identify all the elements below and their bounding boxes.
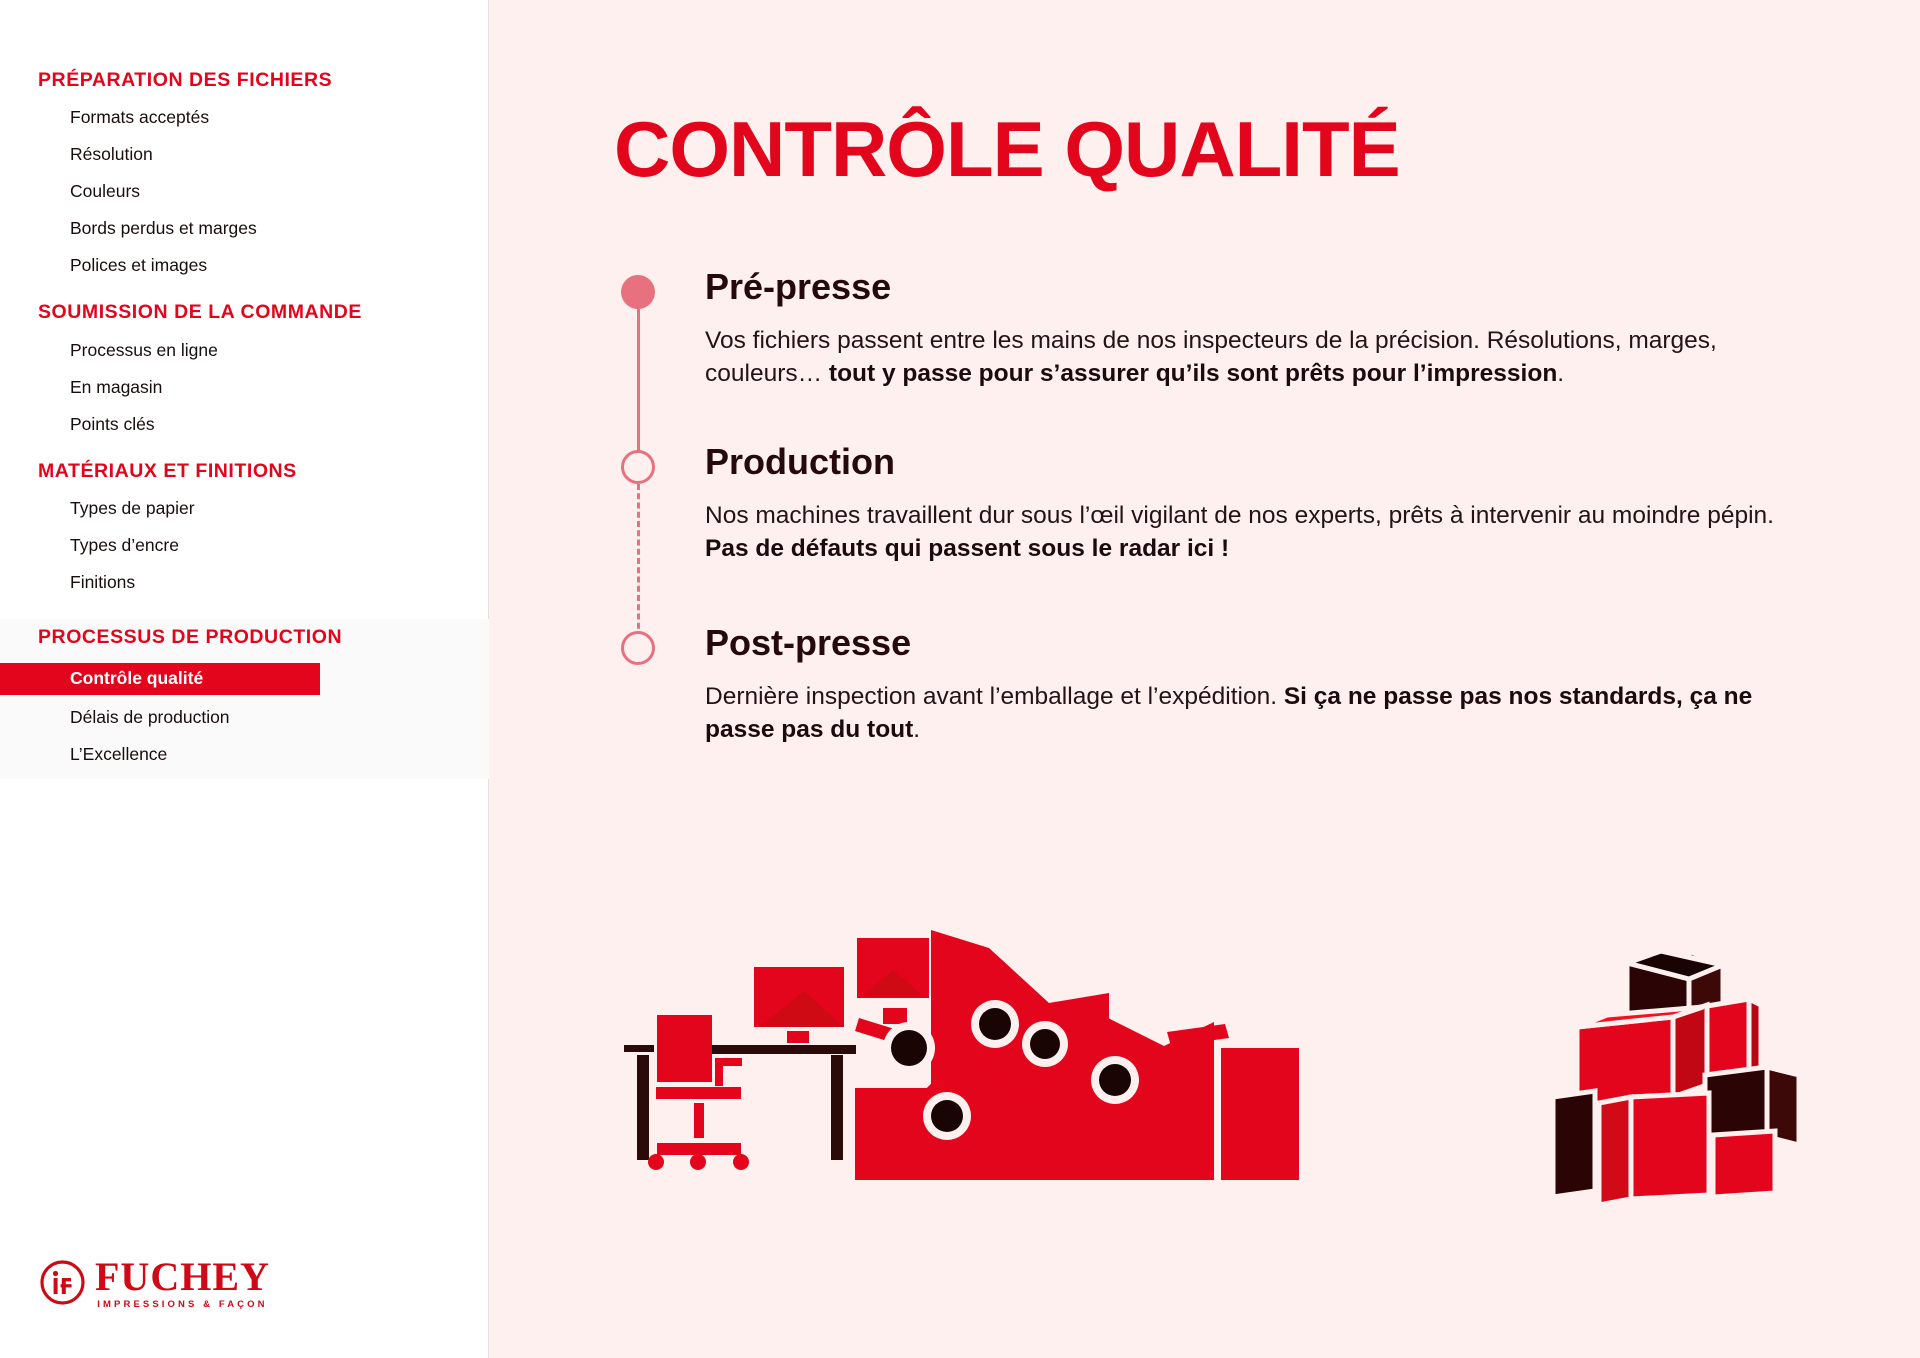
sidebar-item-polices-images[interactable]: Polices et images <box>0 255 489 276</box>
sidebar-item-bords-perdus[interactable]: Bords perdus et marges <box>0 218 489 239</box>
sidebar: PRÉPARATION DES FICHIERS Formats accepté… <box>0 0 489 1358</box>
sidebar-item-couleurs[interactable]: Couleurs <box>0 181 489 202</box>
sidebar-item-lexcellence[interactable]: L’Excellence <box>0 744 489 765</box>
sidebar-item-formats-acceptes[interactable]: Formats acceptés <box>0 107 489 128</box>
step-description: Vos fichiers passent entre les mains de … <box>705 325 1785 390</box>
sidebar-item-finitions[interactable]: Finitions <box>0 572 489 593</box>
logo-name: FUCHEY <box>95 1254 270 1299</box>
step-text-tail: . <box>913 716 920 743</box>
logo-wordmark: FUCHEY IMPRESSIONS & FAÇON <box>95 1258 270 1310</box>
sidebar-item-points-cles[interactable]: Points clés <box>0 414 489 435</box>
page-title: CONTRÔLE QUALITÉ <box>614 110 1400 188</box>
timeline-body: Post-presse Dernière inspection avant l’… <box>705 631 1849 768</box>
step-heading: Pré-presse <box>705 269 1849 305</box>
step-description: Nos machines travaillent dur sous l’œil … <box>705 500 1785 565</box>
stacked-boxes-illustration <box>1549 945 1839 1230</box>
step-text-bold: Pas de défauts qui passent sous le radar… <box>705 535 1229 562</box>
timeline-body: Pré-presse Vos fichiers passent entre le… <box>705 275 1849 450</box>
step-heading: Post-presse <box>705 625 1849 661</box>
if-monogram-icon <box>40 1260 85 1305</box>
quality-timeline: Pré-presse Vos fichiers passent entre le… <box>609 275 1849 768</box>
timeline-step-post-presse: Post-presse Dernière inspection avant l’… <box>609 631 1849 768</box>
step-text-tail: . <box>1557 360 1564 387</box>
timeline-connector-dashed <box>637 484 640 638</box>
sidebar-item-controle-qualite[interactable]: Contrôle qualité <box>0 663 320 695</box>
illustration-strip <box>489 920 1920 1250</box>
step-text-plain: Dernière inspection avant l’emballage et… <box>705 683 1284 710</box>
step-heading: Production <box>705 444 1849 480</box>
printing-press-illustration <box>849 920 1319 1225</box>
sidebar-group-soumission: SOUMISSION DE LA COMMANDE Processus en l… <box>0 302 489 434</box>
timeline-step-pre-presse: Pré-presse Vos fichiers passent entre le… <box>609 275 1849 450</box>
sidebar-item-types-de-papier[interactable]: Types de papier <box>0 498 489 519</box>
brand-logo: FUCHEY IMPRESSIONS & FAÇON <box>40 1258 270 1310</box>
sidebar-group-title: PROCESSUS DE PRODUCTION <box>0 627 489 648</box>
timeline-body: Production Nos machines travaillent dur … <box>705 450 1849 631</box>
timeline-step-production: Production Nos machines travaillent dur … <box>609 450 1849 631</box>
sidebar-item-types-dencre[interactable]: Types d’encre <box>0 535 489 556</box>
sidebar-group-materiaux: MATÉRIAUX ET FINITIONS Types de papier T… <box>0 461 489 593</box>
sidebar-item-processus-en-ligne[interactable]: Processus en ligne <box>0 340 489 361</box>
timeline-gutter <box>609 275 705 450</box>
sidebar-item-en-magasin[interactable]: En magasin <box>0 377 489 398</box>
sidebar-group-processus-production: PROCESSUS DE PRODUCTION Contrôle qualité… <box>0 619 489 778</box>
step-text-plain: Nos machines travaillent dur sous l’œil … <box>705 502 1774 529</box>
sidebar-group-title: PRÉPARATION DES FICHIERS <box>0 70 489 91</box>
slide-root: PRÉPARATION DES FICHIERS Formats accepté… <box>0 0 1920 1358</box>
timeline-dot-hollow-icon <box>621 450 655 484</box>
sidebar-item-delais-de-production[interactable]: Délais de production <box>0 707 489 728</box>
timeline-gutter <box>609 631 705 768</box>
sidebar-group-title: SOUMISSION DE LA COMMANDE <box>0 302 489 323</box>
step-description: Dernière inspection avant l’emballage et… <box>705 681 1785 746</box>
timeline-dot-filled-icon <box>621 275 655 309</box>
sidebar-nav: PRÉPARATION DES FICHIERS Formats accepté… <box>0 70 489 779</box>
timeline-gutter <box>609 450 705 631</box>
sidebar-group-title: MATÉRIAUX ET FINITIONS <box>0 461 489 482</box>
timeline-dot-hollow-icon <box>621 631 655 665</box>
sidebar-group-preparation: PRÉPARATION DES FICHIERS Formats accepté… <box>0 70 489 276</box>
sidebar-item-resolution[interactable]: Résolution <box>0 144 489 165</box>
step-text-bold: tout y passe pour s’assurer qu’ils sont … <box>829 360 1557 387</box>
main-content: CONTRÔLE QUALITÉ Pré-presse Vos fichiers… <box>489 0 1920 1358</box>
logo-tagline: IMPRESSIONS & FAÇON <box>95 1299 270 1310</box>
